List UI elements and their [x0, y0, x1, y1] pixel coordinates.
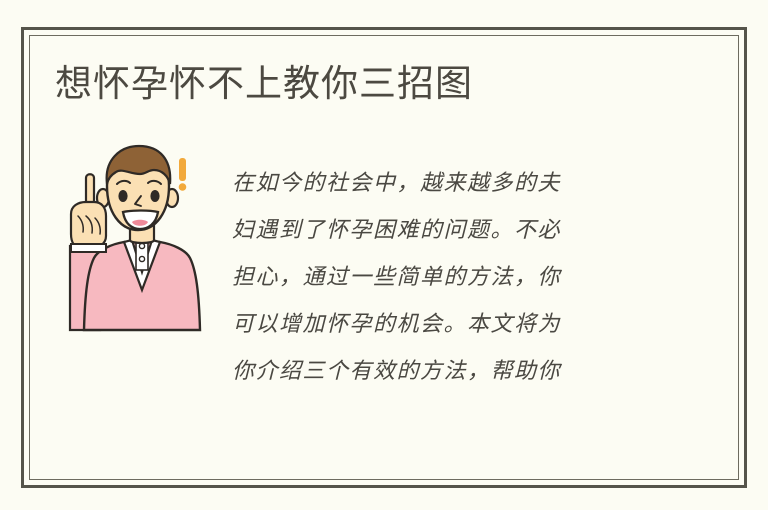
- left-eye: [118, 190, 127, 202]
- body-line: 妇遇到了怀孕困难的问题。不必: [232, 207, 672, 254]
- body-line: 在如今的社会中，越来越多的夫: [232, 160, 672, 207]
- article-body: 在如今的社会中，越来越多的夫 妇遇到了怀孕困难的问题。不必 担心，通过一些简单的…: [232, 160, 672, 395]
- page-title: 想怀孕怀不上教你三招图: [55, 60, 473, 108]
- article-card: 想怀孕怀不上教你三招图: [0, 0, 768, 510]
- exclamation-icon: [179, 158, 187, 191]
- wrist-cuff: [71, 244, 106, 252]
- body-line: 担心，通过一些简单的方法，你: [232, 254, 672, 301]
- cartoon-man-svg: [62, 140, 207, 332]
- right-eye: [150, 190, 159, 202]
- illustration-man-pointing-up: [62, 140, 207, 332]
- shirt-button-top: [139, 243, 144, 248]
- body-line: 可以增加怀孕的机会。本文将为: [232, 301, 672, 348]
- fist: [71, 202, 106, 248]
- body-line: 你介绍三个有效的方法，帮助你: [232, 348, 672, 395]
- shirt-button-bottom: [139, 256, 144, 261]
- pointing-hand: [71, 174, 106, 252]
